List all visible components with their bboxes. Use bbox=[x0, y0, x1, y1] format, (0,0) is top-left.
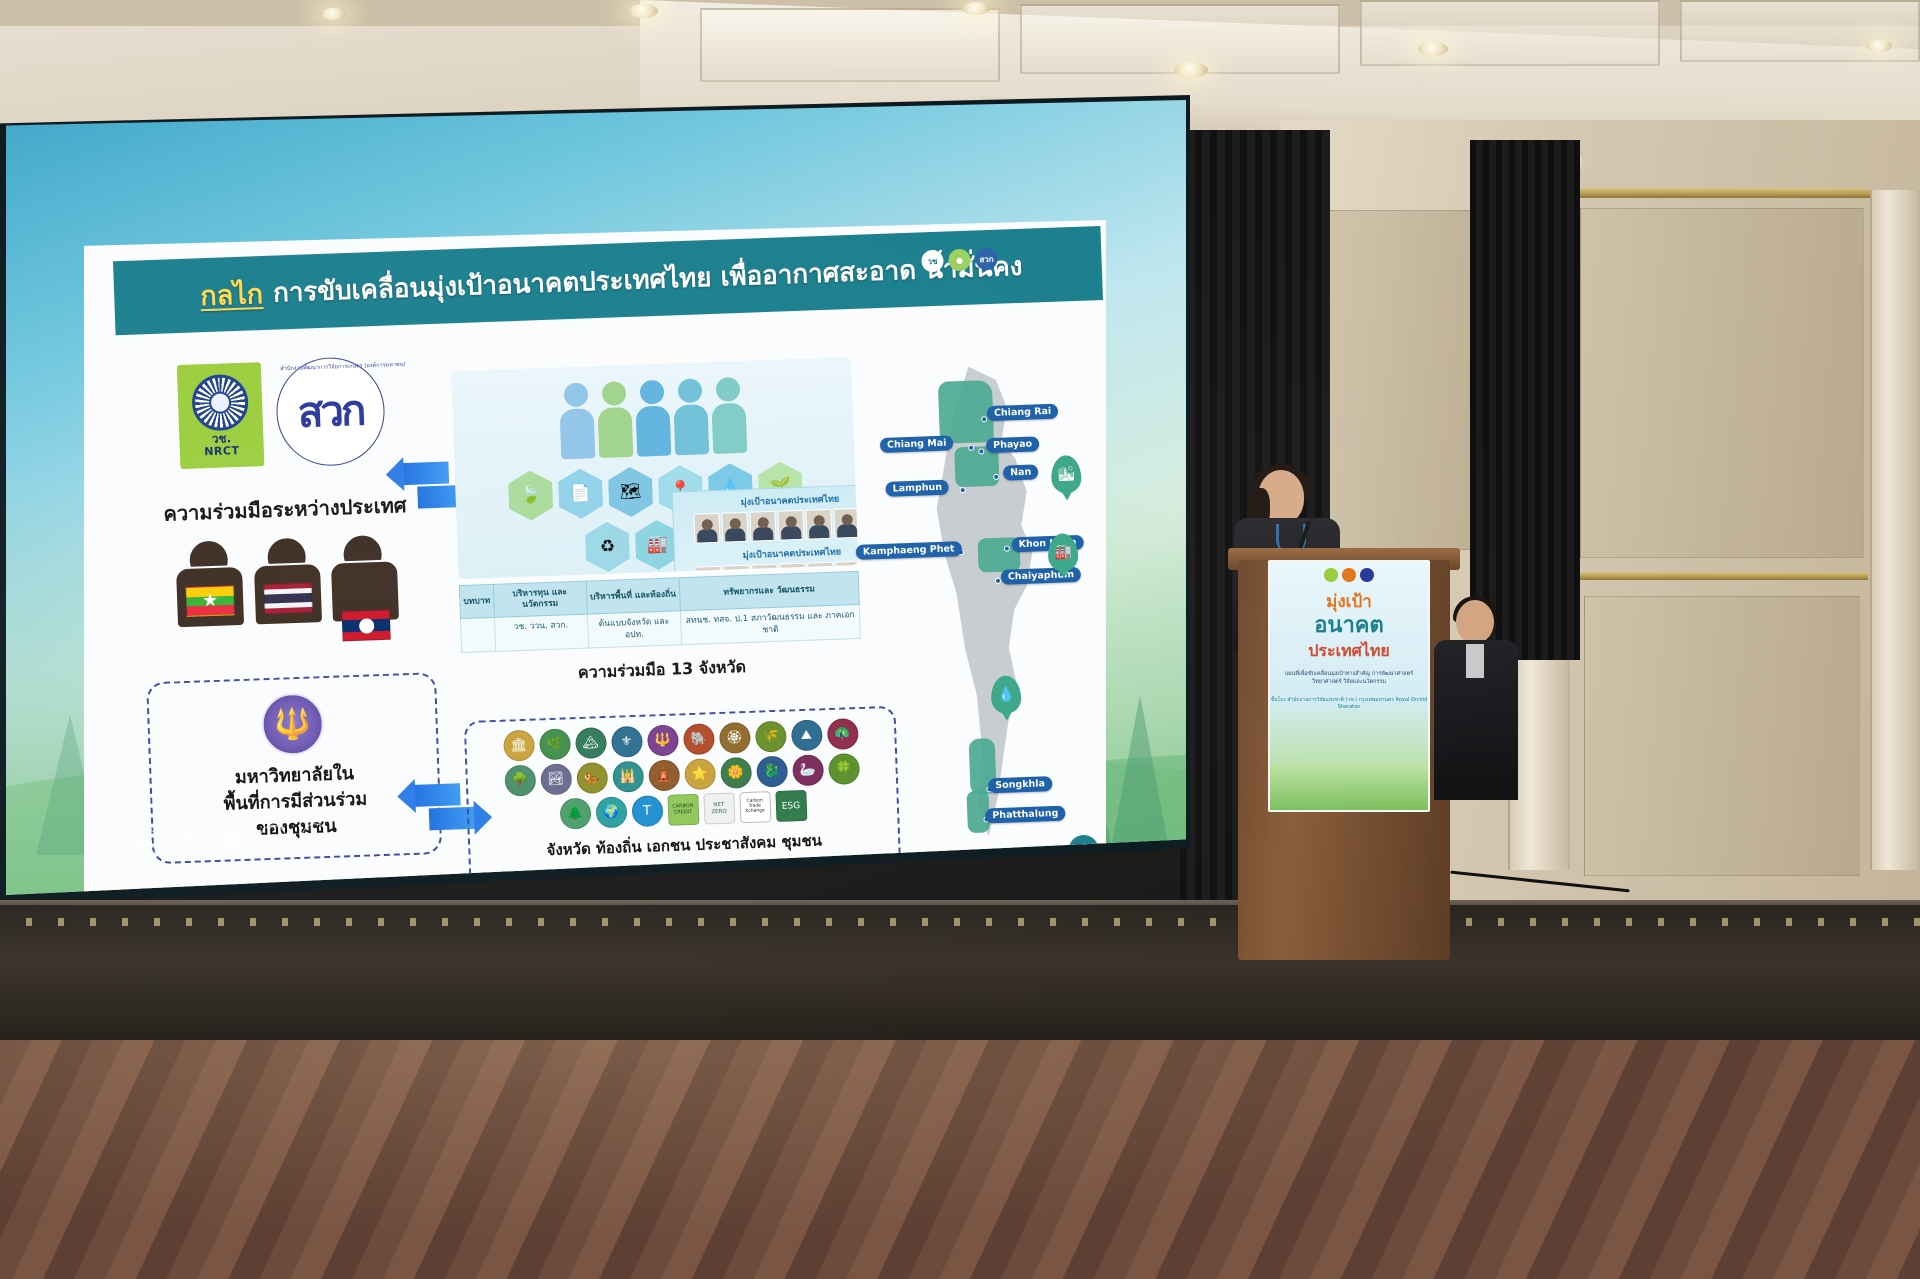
td-resource: สทนช. ทสจ. ป.1 สภาวัฒนธรรม และ ภาคเอกชาต… bbox=[680, 604, 860, 644]
stage-curtain-right bbox=[1470, 140, 1580, 660]
nrct-en: NRCT bbox=[204, 444, 240, 457]
pillar-right bbox=[1870, 190, 1920, 870]
collaboration-illustration: 🍃 📄 🗺 📍 💧 🌱 ♻ 🏭 🌳 bbox=[451, 357, 858, 579]
attendee-person bbox=[1434, 600, 1518, 800]
stage-floor bbox=[0, 905, 1920, 1045]
th-role: บทบาท bbox=[459, 584, 494, 618]
photo-thumb bbox=[833, 508, 858, 539]
hex-leaf-icon: 🍃 bbox=[508, 470, 554, 522]
hex-document-icon: 📄 bbox=[558, 468, 604, 520]
conference-hall-scene: กลไก การขับเคลื่อนมุ่งเป้าอนาคตประเทศไทย… bbox=[0, 0, 1920, 1279]
hex-map-icon: 🗺 bbox=[608, 466, 654, 518]
stage-edge-lights bbox=[0, 918, 1920, 926]
province-label-songkhla: Songkhla bbox=[988, 776, 1052, 793]
international-cooperation-label: ความร่วมมือระหว่างประเทศ bbox=[139, 488, 430, 530]
podium-poster: มุ่งเป้า อนาคต ประเทศไทย แผนที่เพื่อขับเ… bbox=[1268, 560, 1430, 812]
province-seal-icon: 🔱 bbox=[646, 724, 678, 756]
carpet bbox=[0, 1040, 1920, 1279]
flag-thailand-icon bbox=[264, 582, 313, 614]
tver-logo-icon: T bbox=[631, 795, 663, 827]
panel-title-2: มุ่งเป้าอนาคตประเทศไทย bbox=[743, 547, 842, 561]
university-seal-icon bbox=[261, 692, 325, 756]
esg-logo: ESG bbox=[775, 790, 807, 822]
cooperation-caption: ความร่วมมือ 13 จังหวัด bbox=[462, 651, 863, 690]
pen-icon[interactable]: ✎ bbox=[176, 827, 203, 854]
map-pin-water-icon: 💧 bbox=[990, 675, 1021, 714]
td-role bbox=[460, 618, 495, 653]
poster-title-2: อนาคต bbox=[1314, 615, 1384, 637]
center-column: 🍃 📄 🗺 📍 💧 🌱 ♻ 🏭 🌳 bbox=[451, 357, 862, 690]
people-group-icon bbox=[460, 373, 846, 463]
province-seal-icon: 🕌 bbox=[612, 761, 644, 793]
roles-table: บทบาท บริหารทุน และนวัตกรรม บริหารพื้นที… bbox=[459, 571, 861, 653]
projection-screen: กลไก การขับเคลื่อนมุ่งเป้าอนาคตประเทศไทย… bbox=[6, 100, 1186, 895]
event-photo-panel: มุ่งเป้าอนาคตประเทศไทย มุ่งเป้าอนาคตป bbox=[672, 483, 859, 579]
photo-thumb bbox=[777, 510, 804, 541]
photo-thumb bbox=[693, 513, 720, 544]
poster-title-1: มุ่งเป้า bbox=[1326, 588, 1372, 615]
province-label-nan: Nan bbox=[1003, 464, 1039, 480]
province-seal-icon: 🛕 bbox=[648, 759, 680, 791]
eco-logo-icon: 🌍 bbox=[595, 796, 627, 828]
previous-icon[interactable]: ‹ bbox=[92, 830, 119, 857]
arda-logo: สำนักงานพัฒนาการวิจัยการเกษตร (องค์การมห… bbox=[275, 356, 387, 468]
province-label-lamphun: Lamphun bbox=[885, 480, 949, 497]
province-seal-icon: 🏵 bbox=[718, 722, 750, 754]
grid-icon[interactable]: ▦ bbox=[218, 826, 245, 853]
nrct-logo: วช. NRCT bbox=[177, 362, 265, 469]
province-seal-icon: 🌿 bbox=[539, 728, 571, 760]
presentation-slide: กลไก การขับเคลื่อนมุ่งเป้าอนาคตประเทศไทย… bbox=[84, 220, 1106, 895]
flag-people-illustration bbox=[141, 530, 434, 636]
flag-laos-icon bbox=[342, 610, 391, 642]
poster-logo-arda-icon bbox=[1360, 568, 1374, 582]
province-seal-icon: 🐘 bbox=[682, 723, 714, 755]
province-seal-icon: 🏛 bbox=[503, 730, 535, 762]
photo-thumb bbox=[721, 512, 748, 543]
badge-arda-icon: สวก bbox=[975, 248, 998, 271]
poster-logo-orange-icon bbox=[1342, 568, 1356, 582]
poster-subtitle: แผนที่เพื่อขับเคลื่อนมุ่งเป้าทางสำคัญ กา… bbox=[1270, 670, 1428, 687]
province-seal-icon: 🦢 bbox=[792, 754, 824, 786]
province-label-chiang-mai: Chiang Mai bbox=[880, 435, 954, 453]
title-logo-badges: วช ● สวก bbox=[921, 248, 998, 273]
carbon-trade-xchange-logo: CarbonTradeXchange bbox=[739, 791, 771, 823]
slide-title-text: การขับเคลื่อนมุ่งเป้าอนาคตประเทศไทย เพื่… bbox=[272, 245, 1023, 313]
province-seal-icon: ⚜ bbox=[610, 726, 642, 758]
panel-title-1: มุ่งเป้าอนาคตประเทศไทย bbox=[741, 495, 840, 509]
province-seal-icon: 🌲 bbox=[559, 798, 591, 830]
province-seal-icon: 🐅 bbox=[576, 762, 608, 794]
province-seal-icon: 🦚 bbox=[826, 718, 858, 750]
province-seal-icon: ⛰ bbox=[790, 719, 822, 751]
th-funding: บริหารทุน และนวัตกรรม bbox=[493, 581, 587, 617]
province-seal-icon: 🌳 bbox=[504, 765, 536, 797]
slide-title-keyword: กลไก bbox=[199, 272, 263, 317]
province-seal-icon: 🏞 bbox=[540, 763, 572, 795]
province-seal-icon: ⭐ bbox=[684, 758, 716, 790]
carbon-credit-logo: CARBONCREDIT bbox=[667, 794, 699, 826]
poster-title-3: ประเทศไทย bbox=[1308, 639, 1389, 664]
poster-logo-nrct-icon bbox=[1324, 568, 1338, 582]
map-pin-city-icon: 🏙 bbox=[1051, 455, 1082, 494]
organization-logos: วช. NRCT สำนักงานพัฒนาการวิจัยการเกษตร (… bbox=[135, 354, 429, 472]
province-seal-icon: 🌾 bbox=[754, 721, 786, 753]
province-seal-icon: 🍀 bbox=[828, 753, 860, 785]
badge-nrct-icon: วช bbox=[921, 250, 944, 273]
zoom-icon[interactable]: ⊕ bbox=[260, 824, 287, 851]
province-seal-icon: 🐉 bbox=[756, 756, 788, 788]
province-label-phatthalung: Phatthalung bbox=[985, 806, 1065, 824]
badge-green-icon: ● bbox=[948, 249, 971, 272]
province-seal-icon: 🌼 bbox=[720, 757, 752, 789]
hex-recycle-icon: ♻ bbox=[585, 521, 631, 573]
slide-title-bar: กลไก การขับเคลื่อนมุ่งเป้าอนาคตประเทศไทย… bbox=[113, 226, 1103, 335]
province-label-phayao: Phayao bbox=[986, 436, 1039, 453]
th-area: บริหารพื้นที่ และท้องถิ่น bbox=[586, 578, 681, 614]
photo-thumb bbox=[805, 509, 832, 540]
flag-myanmar-icon bbox=[186, 585, 235, 617]
net-zero-logo: NETZERO bbox=[703, 792, 735, 824]
poster-date: ชั้นโถง สำนักงานการวิจัยแห่งชาติ (วช.) ก… bbox=[1270, 697, 1428, 712]
play-icon[interactable]: ▶ bbox=[134, 829, 161, 856]
nrct-wheel-icon bbox=[191, 374, 249, 432]
province-label-chiang-rai: Chiang Rai bbox=[987, 404, 1059, 422]
photo-thumb bbox=[749, 511, 776, 542]
menu-icon[interactable]: ⋯ bbox=[301, 823, 328, 850]
td-funding: วช. ววน. สวก. bbox=[494, 614, 588, 651]
province-seal-icon: 🏔 bbox=[574, 727, 606, 759]
td-area: ต้นแบบจังหวัด และ อปท. bbox=[587, 611, 682, 648]
